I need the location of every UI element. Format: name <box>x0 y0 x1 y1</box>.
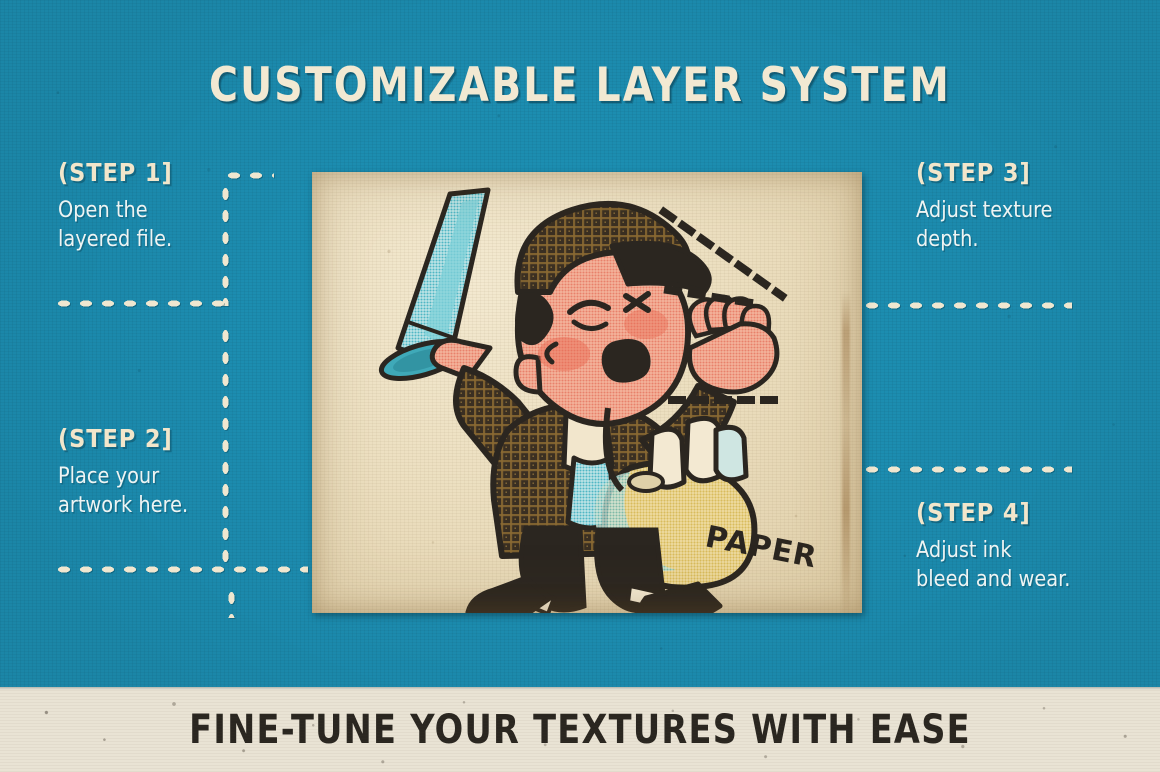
step-4-body: Adjust ink bleed and wear. <box>916 536 1105 595</box>
step-2-body: Place your artwork here. <box>58 462 225 521</box>
step-3-body: Adjust texture depth. <box>916 196 1101 255</box>
cupped-hand <box>689 297 776 392</box>
step-1: (STEP 1] Open the layered file. <box>58 158 228 255</box>
step-1-body: Open the layered file. <box>58 196 208 255</box>
step-3-tag: (STEP 3] <box>916 158 1105 187</box>
guide-dash-top-stub <box>228 172 274 179</box>
cap-brim <box>612 243 709 292</box>
artwork-placeholder-panel[interactable]: PAPER <box>312 172 862 613</box>
bottom-banner: FINE-TUNE YOUR TEXTURES WITH EASE <box>0 687 1160 772</box>
step-4-tag: (STEP 4] <box>916 498 1110 527</box>
step-2: (STEP 2] Place your artwork here. <box>58 424 248 521</box>
step-2-tag: (STEP 2] <box>58 424 229 453</box>
page-title: CUSTOMIZABLE LAYER SYSTEM <box>93 58 1067 113</box>
step-1-tag: (STEP 1] <box>58 158 211 187</box>
poster-root: CUSTOMIZABLE LAYER SYSTEM (STEP 1] Open … <box>0 0 1160 772</box>
guide-dash-step1-underline <box>58 300 228 307</box>
step-4: (STEP 4] Adjust ink bleed and wear. <box>916 498 1131 595</box>
guide-dash-step3-underline <box>866 302 1072 309</box>
mouth <box>602 339 651 383</box>
newsboy-illustration: PAPER <box>312 172 862 613</box>
banner-title: FINE-TUNE YOUR TEXTURES WITH EASE <box>93 707 1067 753</box>
banner-top-edge <box>0 687 1160 690</box>
head <box>515 204 709 424</box>
guide-dash-step4-overline <box>866 466 1072 473</box>
step-3: (STEP 3] Adjust texture depth. <box>916 158 1126 255</box>
guide-dash-step2-underline <box>58 566 308 573</box>
guide-dash-left-vertical-foot <box>228 592 235 618</box>
